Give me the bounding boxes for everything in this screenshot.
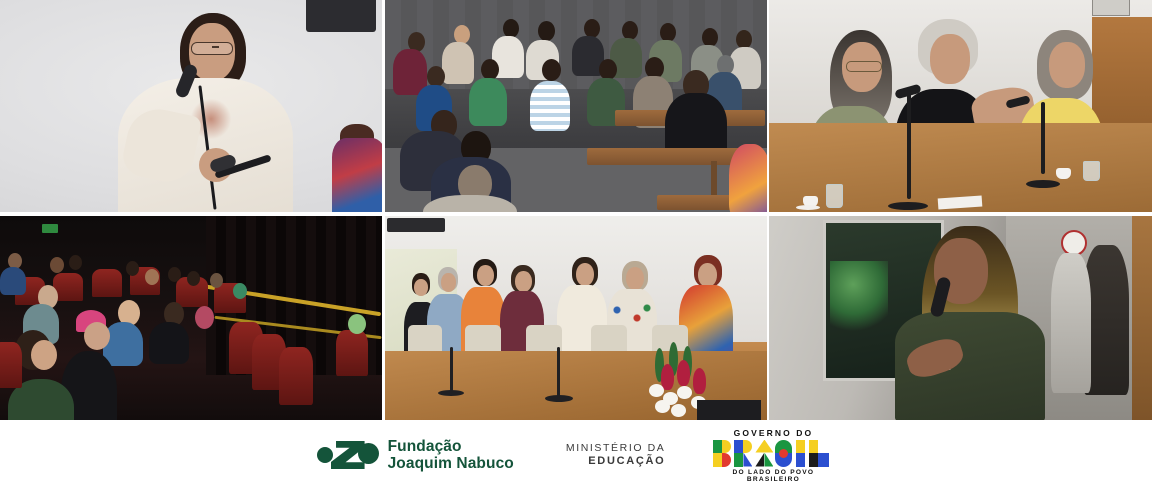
- microphone-base: [1026, 180, 1060, 188]
- photo-cell-top-center[interactable]: [385, 0, 767, 212]
- letter-s-part: [779, 449, 788, 458]
- photo-1-speaker-with-microphone: [0, 0, 382, 212]
- fundaj-line-1: Fundação: [388, 438, 514, 455]
- panelist-1-glasses-icon: [846, 61, 882, 72]
- panelist-3-face: [1049, 42, 1085, 88]
- viewer-head: [195, 306, 214, 329]
- theatre-seat: [0, 342, 22, 388]
- photo-3-panel-of-three-women: [769, 0, 1152, 212]
- brasil-wordmark-icon: [713, 440, 833, 467]
- audience-head: [427, 66, 445, 87]
- red-flower: [693, 368, 706, 394]
- audience-head: [542, 59, 561, 81]
- photo-2-auditorium-audience: [385, 0, 767, 212]
- logo-row: Fundação Joaquim Nabuco MINISTÉRIO DA ED…: [0, 420, 1152, 490]
- letter-r-part: [734, 440, 743, 453]
- fundaj-right-dot: [358, 443, 379, 464]
- fundacao-joaquim-nabuco-logo[interactable]: Fundação Joaquim Nabuco: [317, 438, 514, 473]
- fundaj-left-dot: [317, 447, 333, 463]
- letter-a-part: [755, 453, 764, 467]
- audience-person: [469, 78, 507, 126]
- fundaj-mark-icon: [317, 440, 379, 470]
- desk-leg: [711, 161, 717, 197]
- wall-monitor: [306, 0, 376, 32]
- wall-plaque: [1092, 0, 1130, 16]
- gooseneck-microphone-icon: [907, 89, 911, 199]
- folded-garment: [697, 400, 761, 420]
- white-flower: [649, 384, 664, 397]
- letter-l-part: [809, 453, 818, 467]
- water-glass: [1083, 161, 1100, 181]
- background-visitor: [1051, 253, 1091, 393]
- letter-i-part: [796, 453, 805, 467]
- photo-4-cinema-audience: [0, 216, 382, 420]
- glasses-icon: [191, 42, 233, 55]
- photo-cell-bottom-center[interactable]: [385, 216, 767, 420]
- microphone-base: [545, 395, 573, 402]
- photo-cell-bottom-left[interactable]: [0, 216, 382, 420]
- photo-cell-top-right[interactable]: [769, 0, 1152, 212]
- letter-b-part: [722, 453, 731, 467]
- water-glass: [826, 184, 843, 208]
- audience-person: [442, 42, 474, 84]
- red-flower: [677, 360, 690, 386]
- viewer-head: [168, 267, 181, 282]
- mec-line-2: EDUCAÇÃO: [566, 455, 666, 469]
- attendee-face: [441, 273, 456, 292]
- attendee-face: [515, 271, 532, 292]
- photo-cell-top-left[interactable]: [0, 0, 382, 212]
- attendee-face: [698, 263, 717, 287]
- cup-saucer: [796, 205, 820, 210]
- viewer-head: [348, 314, 366, 334]
- viewer-head: [50, 257, 64, 273]
- letter-b-part: [713, 440, 722, 453]
- bystander-colorful-garment: [332, 138, 382, 212]
- letter-b-part: [713, 453, 722, 467]
- governo-top-label: GOVERNO DO: [711, 428, 835, 438]
- gooseneck-microphone-icon: [450, 347, 453, 392]
- gooseneck-microphone-icon: [1041, 102, 1045, 174]
- fundaj-line-2: Joaquim Nabuco: [388, 455, 514, 472]
- theatre-seat: [92, 269, 122, 297]
- letter-r-part: [743, 440, 752, 453]
- chair: [408, 325, 442, 351]
- viewer: [149, 322, 189, 364]
- photo-5-standing-row-behind-table: [385, 216, 767, 420]
- wooden-door-edge: [1132, 216, 1152, 420]
- exit-sign-icon: [42, 224, 58, 233]
- microphone-base: [438, 390, 464, 396]
- white-flower: [677, 386, 692, 399]
- attendee-face: [576, 263, 594, 286]
- viewer: [103, 322, 143, 366]
- footer-logo-bar: Fundação Joaquim Nabuco MINISTÉRIO DA ED…: [0, 420, 1152, 490]
- panelist-2-face: [930, 34, 970, 84]
- white-flower: [655, 400, 670, 413]
- letter-r-part: [743, 453, 752, 467]
- coffee-cup: [1056, 168, 1071, 179]
- letter-l-part: [809, 440, 818, 453]
- collage-page: Fundação Joaquim Nabuco MINISTÉRIO DA ED…: [0, 0, 1152, 490]
- white-flower: [671, 404, 686, 417]
- chair: [591, 325, 627, 351]
- viewer-head: [31, 340, 57, 370]
- ceiling-projector: [387, 218, 445, 232]
- letter-b-part: [722, 440, 731, 453]
- red-flower: [661, 364, 674, 390]
- letter-l-part: [818, 453, 829, 467]
- gooseneck-microphone-icon: [557, 347, 560, 398]
- viewer: [0, 267, 26, 295]
- theatre-seat: [279, 347, 313, 405]
- letter-a-part: [755, 440, 773, 453]
- letter-a-part: [764, 453, 773, 467]
- viewer-head: [84, 322, 110, 350]
- audience-head: [538, 21, 555, 41]
- letter-r-part: [734, 453, 743, 467]
- governo-tagline: DO LADO DO POVO BRASILEIRO: [711, 469, 835, 483]
- chair: [465, 325, 501, 351]
- potted-plant: [830, 261, 888, 339]
- theatre-seat: [336, 330, 368, 376]
- mec-line-1: MINISTÉRIO DA: [566, 442, 666, 455]
- audience-head: [702, 28, 718, 47]
- governo-do-brasil-logo[interactable]: GOVERNO DO: [711, 428, 835, 483]
- fundaj-wordmark: Fundação Joaquim Nabuco: [388, 438, 514, 473]
- microphone-base: [888, 202, 928, 210]
- photo-6-young-woman-with-microphone: [769, 216, 1152, 420]
- ministerio-da-educacao-logo[interactable]: MINISTÉRIO DA EDUCAÇÃO: [566, 442, 666, 469]
- audience-head: [481, 59, 499, 80]
- attendee-face: [626, 267, 644, 290]
- wooden-door: [1092, 17, 1152, 127]
- audience-person: [530, 81, 570, 131]
- photo-cell-bottom-right[interactable]: [769, 216, 1152, 420]
- viewer-head: [126, 261, 139, 276]
- letter-i-part: [796, 440, 805, 453]
- attendee-face: [477, 265, 494, 286]
- attendee-face: [414, 279, 428, 296]
- photo-mosaic: [0, 0, 1152, 420]
- audience-person: [729, 144, 767, 212]
- viewer-head: [69, 255, 82, 270]
